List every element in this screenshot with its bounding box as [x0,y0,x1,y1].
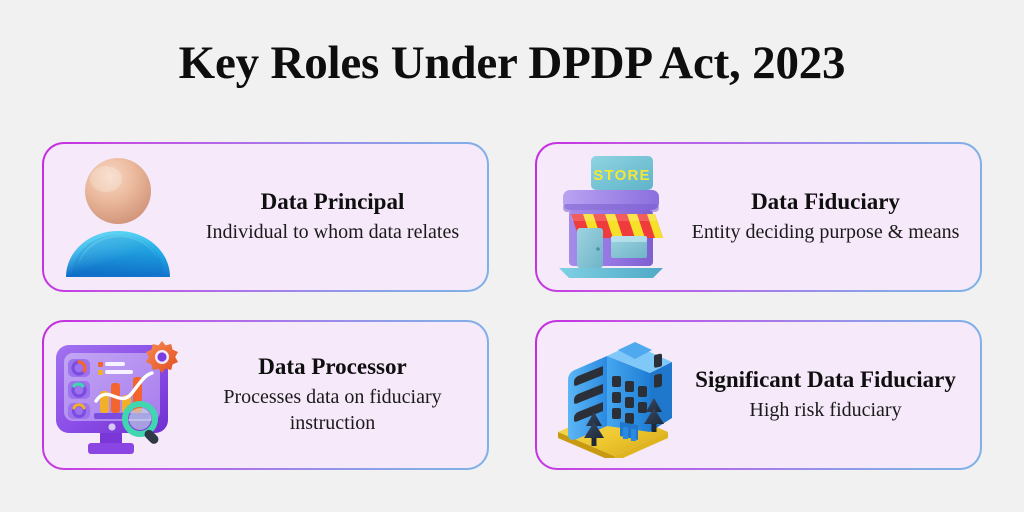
office-building-icon [541,325,681,465]
card-text-block: Data Principal Individual to whom data r… [188,188,487,246]
card-title: Data Principal [188,188,477,215]
card-text-block: Data Processor Processes data on fiducia… [188,353,487,436]
card-title: Data Processor [188,353,477,380]
card-description: Processes data on fiduciary instruction [188,385,477,436]
page-title: Key Roles Under DPDP Act, 2023 [0,38,1024,90]
card-text-block: Data Fiduciary Entity deciding purpose &… [681,188,980,246]
person-avatar-icon-svg [58,155,178,279]
storefront-icon-svg: STORE [547,154,675,280]
store-sign-label: STORE [593,167,650,184]
dashboard-monitor-icon-svg [50,331,186,459]
infographic-page: Key Roles Under DPDP Act, 2023 [0,0,1024,512]
dashboard-monitor-icon [48,325,188,465]
card-title: Data Fiduciary [681,188,970,215]
card-significant-data-fiduciary[interactable]: Significant Data Fiduciary High risk fid… [535,320,982,470]
card-description: High risk fiduciary [681,398,970,424]
card-text-block: Significant Data Fiduciary High risk fid… [681,366,980,424]
card-data-principal[interactable]: Data Principal Individual to whom data r… [42,142,489,292]
storefront-icon: STORE [541,147,681,287]
card-description: Entity deciding purpose & means [681,220,970,246]
card-title: Significant Data Fiduciary [681,366,970,393]
card-data-processor[interactable]: Data Processor Processes data on fiducia… [42,320,489,470]
roles-card-grid: Data Principal Individual to whom data r… [42,142,982,466]
office-building-icon-svg [546,332,676,458]
card-description: Individual to whom data relates [188,220,477,246]
card-data-fiduciary[interactable]: STORE [535,142,982,292]
person-avatar-icon [48,147,188,287]
